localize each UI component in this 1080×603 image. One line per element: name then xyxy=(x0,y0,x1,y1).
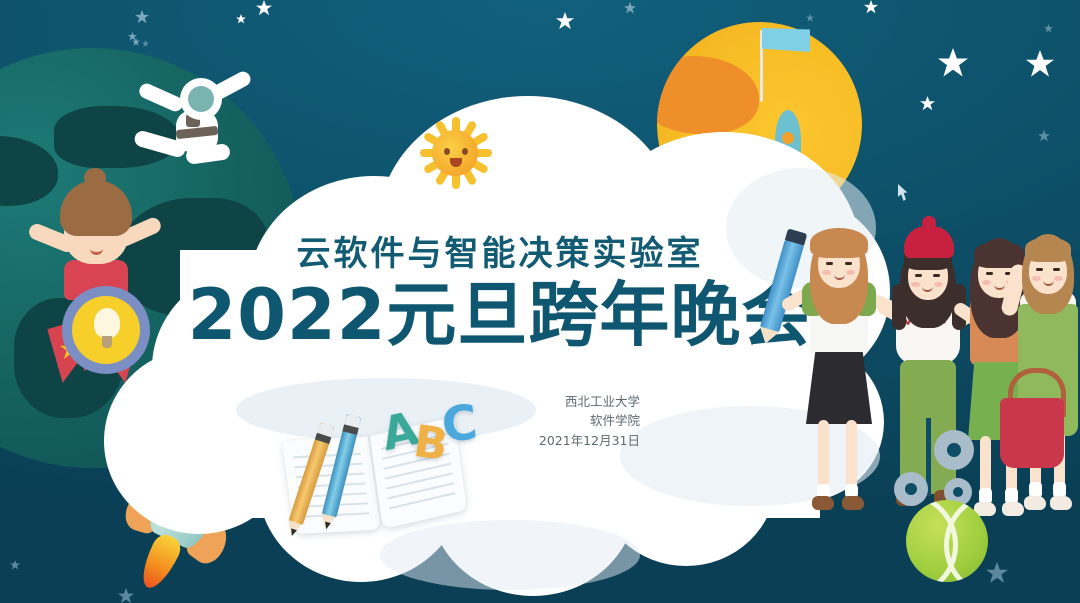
girl-eye xyxy=(826,262,833,265)
girl-eye xyxy=(933,274,940,277)
girl-shoe xyxy=(1050,496,1072,510)
girl-shoe xyxy=(842,496,864,510)
girl-braid xyxy=(892,284,906,330)
girl-leg xyxy=(846,420,857,494)
sun-icon xyxy=(424,122,486,184)
gear-hole xyxy=(947,443,961,457)
girl-shoe xyxy=(1024,496,1046,510)
gear-icon xyxy=(934,430,974,470)
gear-hole xyxy=(905,483,917,495)
event-credits: 西北工业大学 软件学院 2021年12月31日 xyxy=(520,392,640,450)
organization-name: 西北工业大学 xyxy=(520,392,640,411)
girl-skirt xyxy=(806,352,872,424)
girl-eye xyxy=(845,262,852,265)
gear-hole xyxy=(953,487,963,497)
letter-c: C xyxy=(439,394,480,453)
girl-blush xyxy=(934,282,943,287)
new-year-gala-poster: A B C 云软件与智能决策实验室 2022元旦跨年晚会 西北工业大学 软件学院… xyxy=(0,0,1080,603)
girl-eye xyxy=(986,272,993,275)
girl-leg xyxy=(818,420,829,494)
girl-shoe xyxy=(812,496,834,510)
girl-blush xyxy=(822,270,831,275)
girl-blush xyxy=(911,282,920,287)
girl-eye xyxy=(1053,268,1060,271)
girl-blush xyxy=(1054,276,1063,281)
sun-eye xyxy=(444,148,450,155)
girl-blush xyxy=(846,270,855,275)
girl-hair-front xyxy=(810,228,868,258)
girl-blush xyxy=(982,280,991,285)
cloud-shading xyxy=(380,520,640,590)
sun-eye xyxy=(462,148,468,155)
event-date: 2021年12月31日 xyxy=(520,431,640,450)
tennis-seam xyxy=(944,500,988,582)
department-name: 软件学院 xyxy=(520,411,640,430)
girl-blush xyxy=(1032,276,1041,281)
girl-eye xyxy=(1036,268,1043,271)
girl-eye xyxy=(915,274,922,277)
girl-bangs xyxy=(1025,238,1071,262)
handbag-icon xyxy=(1000,398,1064,468)
beanie-pom xyxy=(922,216,936,230)
sun-core xyxy=(432,130,478,176)
tennis-ball-icon xyxy=(906,500,988,582)
beanie-hat-icon xyxy=(904,226,954,258)
